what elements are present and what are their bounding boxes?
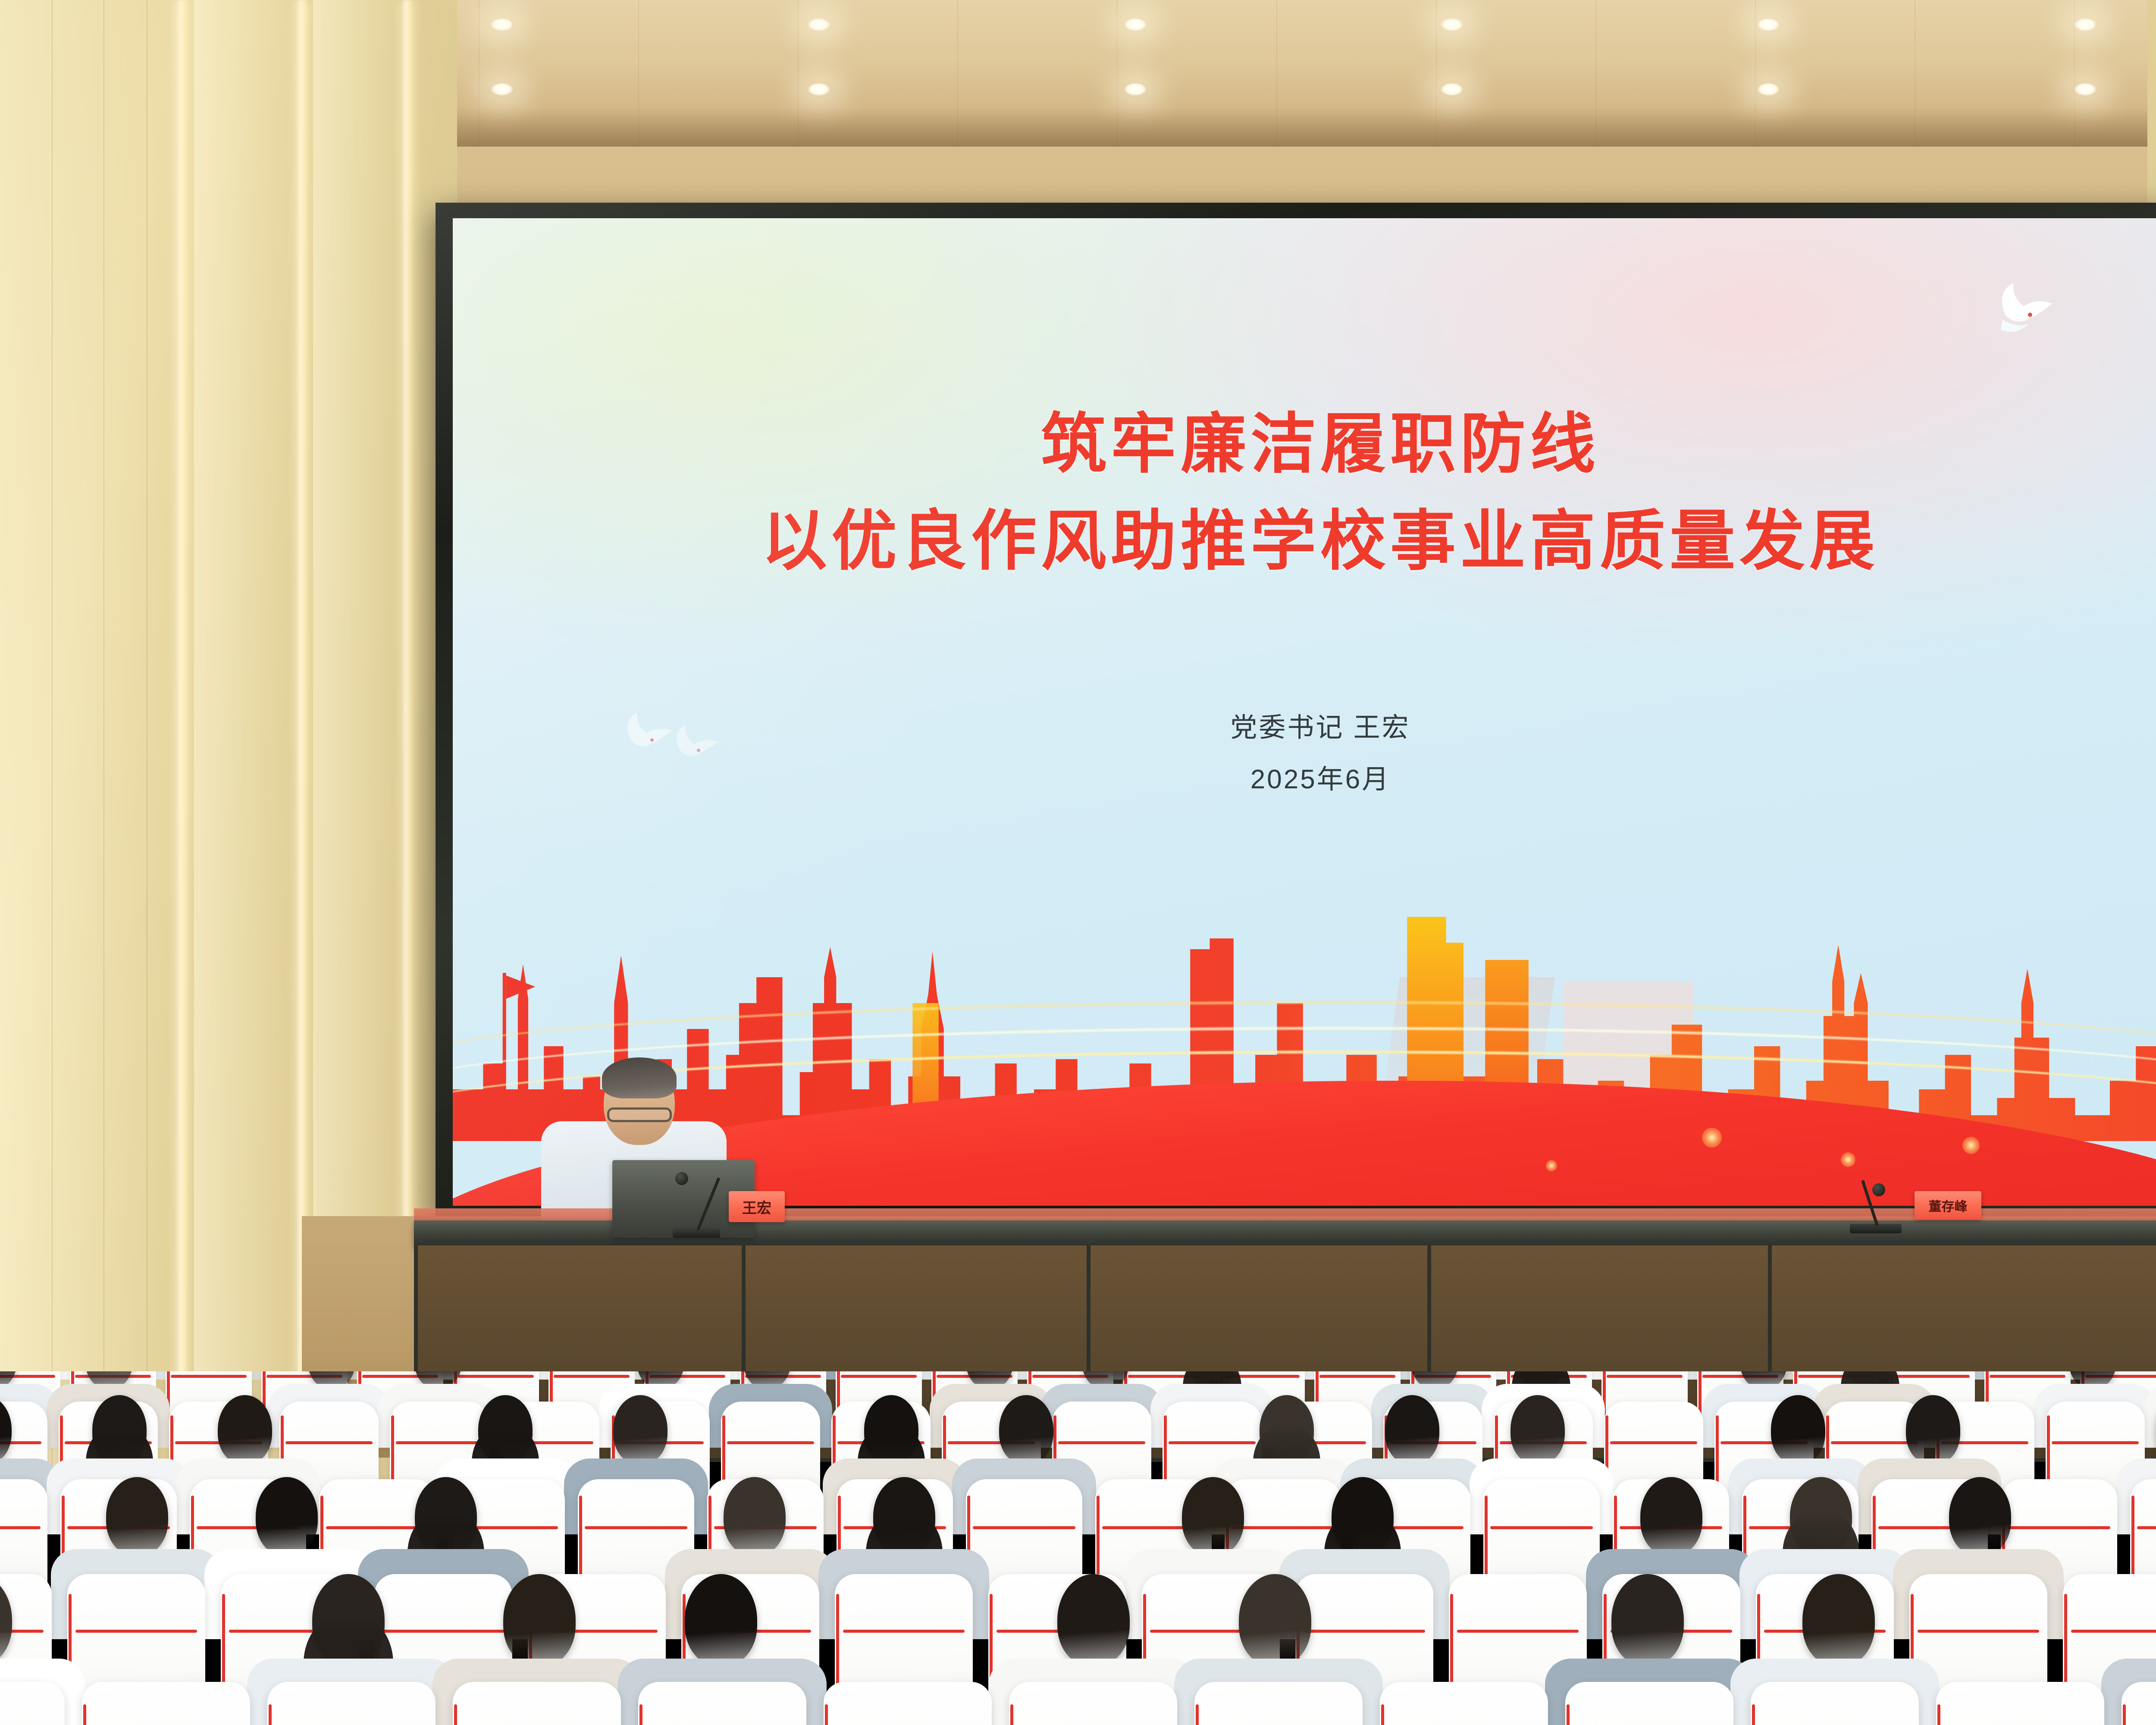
ceiling-downlight <box>1123 17 1148 32</box>
audience-person-head <box>218 1395 272 1464</box>
ceiling-downlight <box>1756 82 1781 97</box>
ceiling-downlight <box>489 82 514 97</box>
audience-chair[interactable]: 正创 <box>1751 1682 1919 1725</box>
microphone-speaker <box>673 1164 720 1238</box>
slide-ribbon-3 <box>453 1001 2156 1139</box>
speaker-hair <box>602 1057 677 1098</box>
audience-person-head <box>1906 1395 1960 1464</box>
nameplate-right-seat-text: 董存峰 <box>1929 1196 1968 1215</box>
microphone-right <box>1850 1173 1902 1233</box>
audience-person-head <box>1385 1395 1439 1464</box>
dove-icon-top-right <box>1972 274 2063 343</box>
left-wall-panel-b <box>194 0 293 1509</box>
ceiling-downlight <box>489 17 514 32</box>
microphone-head <box>1872 1183 1885 1196</box>
auditorium-scene: 筑牢廉洁履职防线 以优良作风助推学校事业高质量发展 党委书记 王宏 2025年6… <box>0 0 2156 1725</box>
audience-person-head <box>503 1574 576 1666</box>
audience-chair[interactable] <box>1194 1682 1363 1725</box>
slide-speaker-line: 党委书记 王宏 <box>453 706 2156 744</box>
audience-person-head <box>1640 1477 1702 1556</box>
audience-person-head <box>613 1395 667 1464</box>
ceiling-downlight <box>1439 17 1464 32</box>
ceiling-downlight <box>2073 82 2098 97</box>
audience-chair[interactable]: 正创 <box>638 1682 806 1725</box>
audience-person-head <box>685 1574 757 1666</box>
audience-chair[interactable]: 正创 <box>1380 1682 1548 1725</box>
ceiling-downlight <box>2073 17 2098 32</box>
slide-title-line-2: 以优良作风助推学校事业高质量发展 <box>453 488 2156 583</box>
audience-chair[interactable] <box>82 1682 250 1725</box>
audience-person-head <box>999 1395 1053 1464</box>
ceiling-downlight <box>1439 82 1464 97</box>
slide-spark <box>1546 1160 1557 1171</box>
audience-person-head <box>106 1477 168 1556</box>
slide-date-line: 2025年6月 <box>453 757 2156 796</box>
audience-chair[interactable]: 正创 <box>0 1682 65 1725</box>
audience-chair[interactable] <box>1936 1682 2104 1725</box>
ceiling-downlight <box>806 82 831 97</box>
presentation-screen[interactable]: 筑牢廉洁履职防线 以优良作风助推学校事业高质量发展 党委书记 王宏 2025年6… <box>453 218 2156 1206</box>
audience-chair[interactable]: 正创 <box>1009 1682 1177 1725</box>
left-wall-slat <box>147 0 147 1509</box>
audience-person-head <box>1510 1395 1565 1464</box>
slide-spark <box>1962 1137 1980 1154</box>
audience-person-head <box>1239 1574 1311 1666</box>
left-wall-light-strip-1 <box>177 0 188 1509</box>
audience-chair[interactable] <box>1565 1682 1733 1725</box>
microphone-head <box>675 1172 688 1185</box>
audience-seating: 正创正创正创正创正创正创正创正创正创正创正创正创正创正创正创正创正创正创正创正创… <box>0 1371 2156 1725</box>
audience-person-head <box>256 1477 318 1556</box>
microphone-base <box>673 1228 720 1238</box>
led-screen-bezel: 筑牢廉洁履职防线 以优良作风助推学校事业高质量发展 党委书记 王宏 2025年6… <box>436 203 2156 1220</box>
audience-person-head <box>1182 1477 1244 1556</box>
nameplate-right-seat: 董存峰 <box>1915 1191 1981 1220</box>
ceiling-downlight <box>1123 82 1148 97</box>
audience-person-head <box>1057 1574 1130 1666</box>
audience-chair[interactable]: 正创 <box>2122 1682 2156 1725</box>
slide-title-line-1: 筑牢廉洁履职防线 <box>453 391 2156 486</box>
audience-person-head <box>1611 1574 1684 1666</box>
ceiling-downlight <box>1756 17 1781 32</box>
audience-chair[interactable] <box>824 1682 992 1725</box>
slide-spark <box>1841 1152 1855 1167</box>
left-wall-slat <box>103 0 104 1509</box>
audience-person-head <box>1802 1574 1875 1666</box>
audience-chair[interactable]: 正创 <box>267 1682 436 1725</box>
audience-person-head <box>724 1477 786 1556</box>
speaker-glasses-icon <box>607 1107 672 1122</box>
audience-person-head <box>1949 1477 2011 1556</box>
microphone-stem <box>696 1177 720 1230</box>
nameplate-speaker: 王宏 <box>729 1191 785 1222</box>
slide-spark <box>1702 1128 1722 1148</box>
ceiling-downlight <box>806 17 831 32</box>
audience-person-head <box>1771 1395 1825 1464</box>
audience-chair[interactable] <box>453 1682 621 1725</box>
left-wall-slat <box>52 0 53 1509</box>
nameplate-speaker-text: 王宏 <box>742 1196 771 1217</box>
